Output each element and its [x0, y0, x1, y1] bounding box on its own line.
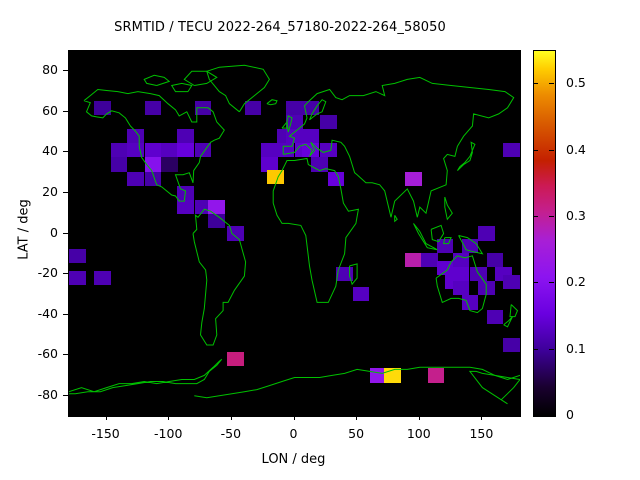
coastline-path: [283, 77, 514, 217]
coastline-path: [273, 159, 358, 303]
x-tick-label: 100: [389, 426, 449, 441]
colorbar-tick-mark: [533, 282, 538, 283]
y-tick-mark: [63, 273, 68, 274]
colorbar-tick-mark: [533, 216, 538, 217]
y-tick-mark: [63, 314, 68, 315]
y-tick-mark: [63, 395, 68, 396]
coastline-path: [282, 122, 287, 128]
coastline-path: [395, 215, 398, 221]
y-tick-mark: [63, 192, 68, 193]
coastline-layer: [69, 51, 520, 416]
coastline-path: [457, 142, 475, 170]
y-tick-label: 40: [12, 143, 58, 158]
coastline-path: [172, 83, 192, 91]
y-tick-label: -80: [12, 387, 58, 402]
y-tick-label: 80: [12, 62, 58, 77]
coastline-path: [459, 236, 483, 254]
coastline-path: [431, 225, 444, 241]
colorbar-gradient: [534, 51, 555, 416]
y-tick-mark: [63, 354, 68, 355]
coastline-path: [436, 256, 486, 313]
x-tick-mark: [231, 415, 232, 420]
colorbar-tick-label: 0.3: [566, 208, 586, 223]
coastline-path: [470, 371, 520, 403]
chart-canvas: SRMTID / TECU 2022-264_57180-2022-264_58…: [0, 0, 640, 480]
coastline-path: [193, 209, 246, 345]
x-tick-label: -50: [201, 426, 261, 441]
y-tick-mark: [63, 70, 68, 71]
x-tick-label: 0: [264, 426, 324, 441]
coastline-path: [444, 238, 452, 244]
colorbar-tick-mark: [549, 150, 554, 151]
map-plot-area: [68, 50, 521, 417]
colorbar-tick-mark: [533, 349, 538, 350]
x-axis-label: LON / deg: [68, 452, 519, 467]
colorbar-tick-mark: [533, 83, 538, 84]
y-tick-label: 60: [12, 103, 58, 118]
coastline-path: [287, 116, 292, 132]
coastline-path: [267, 100, 277, 105]
x-tick-mark: [106, 415, 107, 420]
coastline-path: [350, 264, 358, 284]
coastline-path: [414, 223, 438, 249]
x-tick-label: 50: [326, 426, 386, 441]
colorbar-tick-mark: [549, 349, 554, 350]
y-axis-label: LAT / deg: [17, 160, 32, 300]
y-tick-mark: [63, 151, 68, 152]
x-tick-label: -100: [138, 426, 198, 441]
coastline-path: [310, 100, 326, 120]
colorbar-tick-mark: [549, 216, 554, 217]
x-tick-mark: [356, 415, 357, 420]
x-tick-label: -150: [76, 426, 136, 441]
coastline-path: [69, 359, 222, 394]
colorbar-tick-label: 0: [566, 407, 574, 422]
coastline-path: [84, 90, 224, 202]
colorbar: [533, 50, 556, 417]
colorbar-tick-mark: [549, 282, 554, 283]
y-tick-mark: [63, 111, 68, 112]
colorbar-tick-label: 0.5: [566, 75, 586, 90]
x-tick-mark: [168, 415, 169, 420]
coastline-path: [445, 197, 453, 219]
colorbar-tick-mark: [549, 415, 554, 416]
coastline-path: [207, 65, 270, 112]
x-tick-label: 150: [451, 426, 511, 441]
coastline-path: [144, 75, 169, 85]
colorbar-tick-mark: [533, 415, 538, 416]
colorbar-tick-label: 0.2: [566, 274, 586, 289]
coastline-path: [504, 317, 513, 327]
y-tick-label: -40: [12, 306, 58, 321]
x-tick-mark: [481, 415, 482, 420]
colorbar-tick-mark: [533, 150, 538, 151]
x-tick-mark: [419, 415, 420, 420]
y-tick-mark: [63, 233, 68, 234]
y-tick-label: -60: [12, 346, 58, 361]
colorbar-tick-mark: [549, 83, 554, 84]
colorbar-tick-label: 0.1: [566, 341, 586, 356]
x-tick-mark: [294, 415, 295, 420]
colorbar-tick-label: 0.4: [566, 142, 586, 157]
chart-title: SRMTID / TECU 2022-264_57180-2022-264_58…: [0, 20, 560, 35]
coastline-path: [510, 305, 518, 317]
